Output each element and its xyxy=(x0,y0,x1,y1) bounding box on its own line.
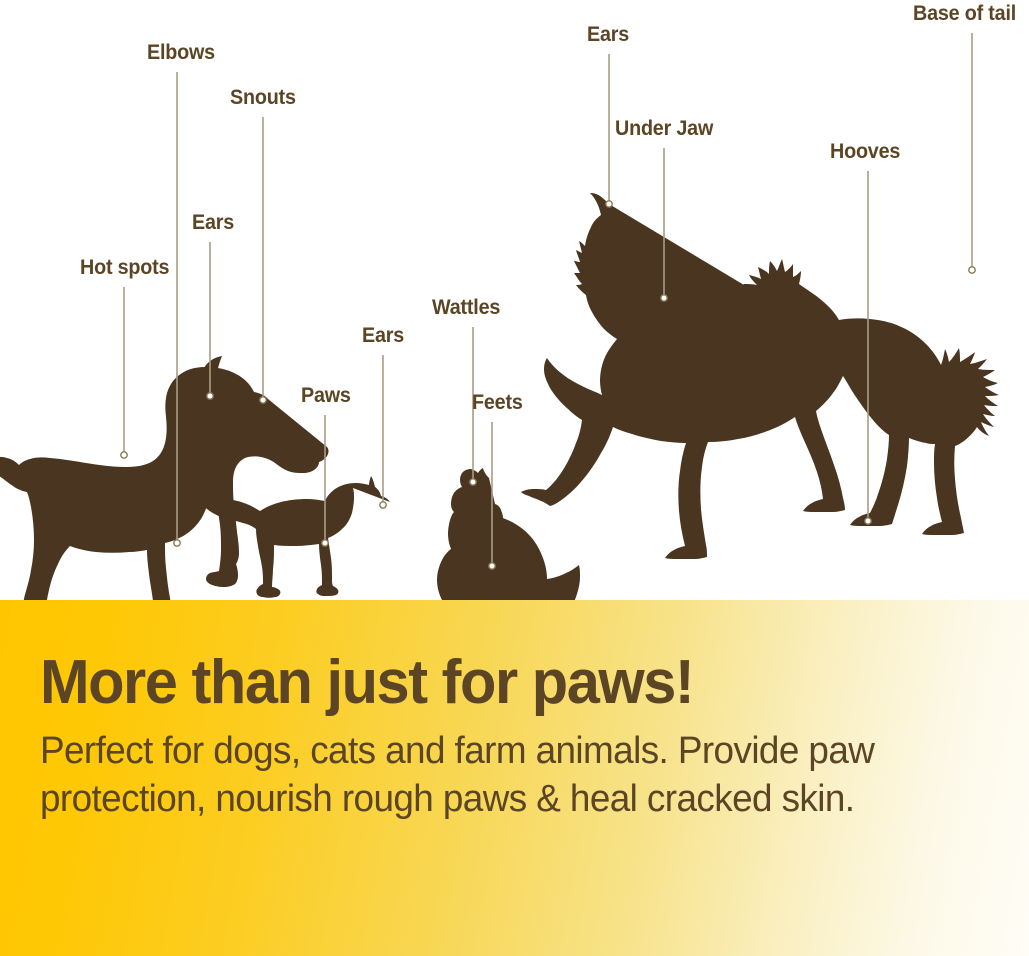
leader-dot-base-of-tail xyxy=(969,267,975,273)
callout-label-paws: Paws xyxy=(301,385,351,406)
callout-label-feets: Feets xyxy=(472,392,523,413)
callout-label-dog-ears: Ears xyxy=(192,212,234,233)
callout-label-snouts: Snouts xyxy=(230,87,296,108)
leader-dot-snouts xyxy=(260,397,266,403)
leader-dot-feets xyxy=(489,563,495,569)
callout-leader-lines xyxy=(0,0,1029,600)
leader-dot-paws xyxy=(322,540,328,546)
leader-dot-horse-ears xyxy=(606,201,612,207)
leader-dot-elbows xyxy=(174,540,180,546)
callout-label-horse-ears: Ears xyxy=(587,24,629,45)
leader-dot-under-jaw xyxy=(661,295,667,301)
callout-label-base-of-tail: Base of tail xyxy=(913,3,1016,24)
leader-dot-dog-ears xyxy=(207,393,213,399)
callout-label-hot-spots: Hot spots xyxy=(80,257,169,278)
callout-label-cat-ears: Ears xyxy=(362,325,404,346)
leader-dot-cat-ears xyxy=(380,502,386,508)
animal-callout-diagram: Hot spots Elbows Ears Snouts Paws Ears W… xyxy=(0,0,1029,600)
leader-dot-hot-spots xyxy=(121,452,127,458)
callout-label-hooves: Hooves xyxy=(830,141,900,162)
leader-dot-hooves xyxy=(865,518,871,524)
callout-label-under-jaw: Under Jaw xyxy=(615,118,713,139)
product-infographic: Hot spots Elbows Ears Snouts Paws Ears W… xyxy=(0,0,1029,956)
promo-banner-content: More than just for paws! Perfect for dog… xyxy=(40,652,999,824)
callout-label-elbows: Elbows xyxy=(147,42,215,63)
promo-body-text: Perfect for dogs, cats and farm animals.… xyxy=(40,728,952,824)
promo-banner: More than just for paws! Perfect for dog… xyxy=(0,600,1029,956)
callout-label-wattles: Wattles xyxy=(432,297,500,318)
promo-headline: More than just for paws! xyxy=(40,652,961,714)
leader-dot-wattles xyxy=(470,479,476,485)
